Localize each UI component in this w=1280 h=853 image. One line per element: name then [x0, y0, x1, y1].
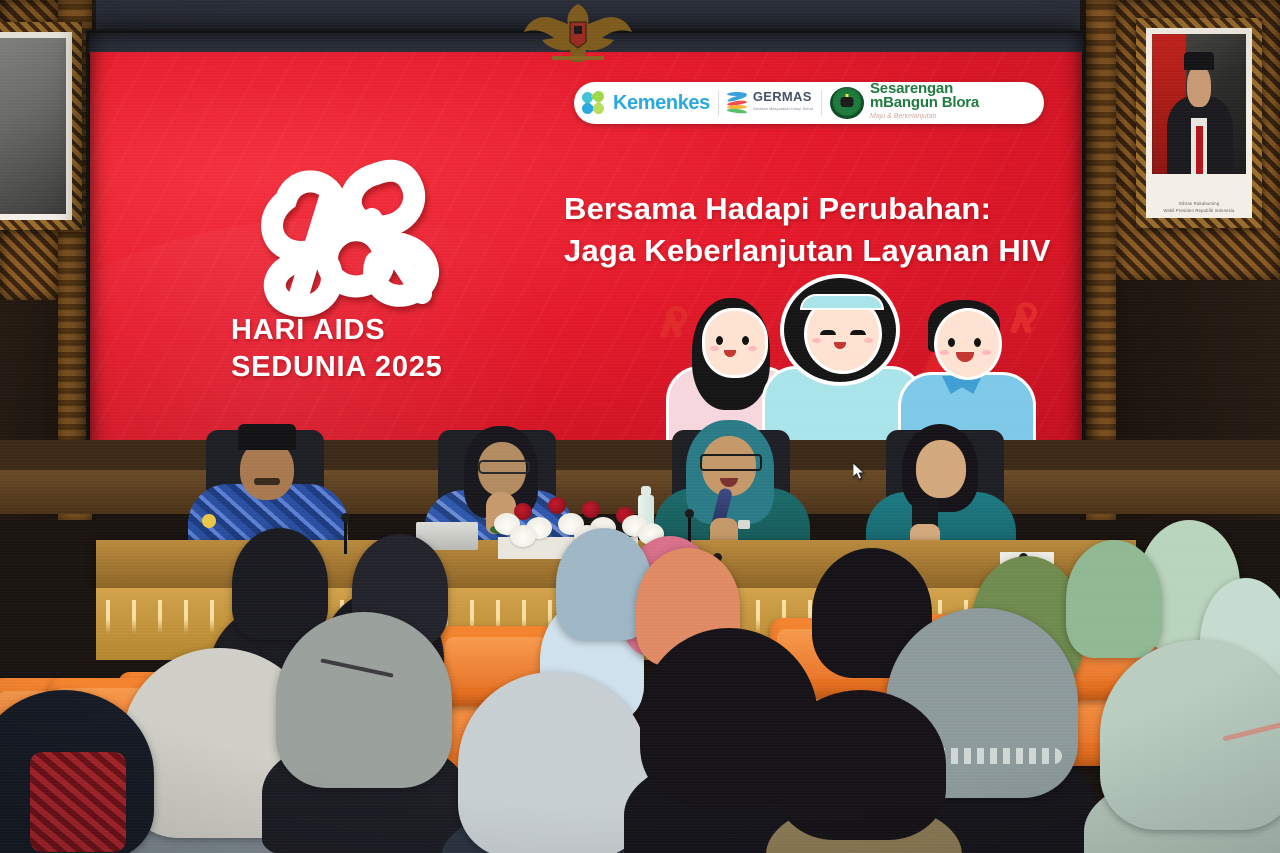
vice-president-portrait: Gibran Rakabuming Wakil Presiden Republi… — [1136, 18, 1262, 228]
figure-left-red-ribbon — [658, 304, 684, 344]
mouse-cursor — [853, 463, 865, 481]
germas-label: GERMAS Gerakan Masyarakat Hidup Sehat — [753, 91, 813, 115]
batik-fabric — [30, 752, 126, 852]
figure-middle-headband — [800, 294, 884, 310]
audience-person-front — [1100, 640, 1280, 853]
garuda-pancasila-emblem — [512, 0, 644, 64]
hijab — [276, 612, 452, 788]
portrait-peci-cap — [1184, 52, 1214, 70]
audience-person-front — [458, 672, 648, 853]
kemenkes-petal-icon — [582, 91, 608, 115]
red-rose — [582, 501, 600, 518]
blora-slogan-line3: Maju & Berkelanjutan — [870, 110, 979, 124]
screenshot-root: Gibran Rakabuming Wakil Presiden Republi… — [0, 0, 1280, 853]
blora-slogan-line2: mBangun Blora — [870, 96, 979, 110]
audience-person-front — [276, 612, 452, 812]
portrait-caption: Gibran Rakabuming Wakil Presiden Republi… — [1152, 200, 1246, 214]
kemenkes-logo: Kemenkes — [574, 82, 718, 124]
portrait-face — [1187, 65, 1211, 107]
germas-logo: GERMAS Gerakan Masyarakat Hidup Sehat — [719, 82, 821, 124]
panelist-2-glasses — [478, 460, 530, 474]
hijab — [458, 672, 648, 853]
germas-wordmark: GERMAS — [753, 89, 812, 104]
portrait-caption-title: Wakil Presiden Republik Indonesia — [1152, 207, 1246, 214]
slide-main-title: HARI AIDS SEDUNIA 2025 — [231, 312, 561, 386]
wall-picture-left-photo — [0, 38, 66, 214]
kemenkes-label: Kemenkes — [613, 92, 710, 115]
red-rose — [548, 497, 566, 514]
blora-regency-seal-icon — [830, 87, 864, 119]
panelist-3-watch — [738, 520, 750, 529]
figure-right-face — [934, 308, 1002, 380]
panelist-1-badge — [202, 514, 216, 528]
panelist-1-peci-cap — [238, 424, 296, 450]
panelist-1-moustache — [254, 478, 280, 485]
slide-headline-line2: Jaga Keberlanjutan Layanan HIV — [564, 230, 1086, 272]
portrait-photo — [1152, 34, 1246, 174]
slide-title-line2: SEDUNIA 2025 — [231, 349, 561, 386]
germas-bird-icon — [727, 93, 749, 113]
slide-title-line1: HARI AIDS — [231, 312, 561, 349]
germas-tagline: Gerakan Masyarakat Hidup Sehat — [753, 103, 813, 115]
blora-slogan: Sesarengan mBangun Blora Maju & Berkelan… — [870, 82, 979, 124]
wall-picture-frame-left — [0, 22, 82, 230]
aids-ribbon-cluster-logo — [226, 148, 476, 328]
slide-headline-line1: Bersama Hadapi Perubahan: — [564, 188, 1086, 230]
portrait-tie — [1196, 126, 1203, 174]
panelist-3-glasses — [700, 454, 762, 471]
table-microphone-left — [344, 520, 347, 554]
figure-right-red-ribbon — [1008, 300, 1034, 340]
slide-headline: Bersama Hadapi Perubahan: Jaga Keberlanj… — [564, 188, 1086, 272]
blora-logo: Sesarengan mBangun Blora Maju & Berkelan… — [822, 82, 987, 124]
audience-person-front — [776, 690, 946, 853]
portrait-caption-name: Gibran Rakabuming — [1152, 200, 1246, 207]
hair — [776, 690, 946, 840]
sponsor-logo-strip: Kemenkes GERMAS Gerakan Masyarakat Hidup… — [574, 82, 1044, 124]
led-presentation-screen[interactable]: Kemenkes GERMAS Gerakan Masyarakat Hidup… — [86, 30, 1086, 472]
panelist-4-face — [916, 440, 966, 498]
hijab — [1100, 640, 1280, 830]
white-lily — [510, 525, 536, 547]
